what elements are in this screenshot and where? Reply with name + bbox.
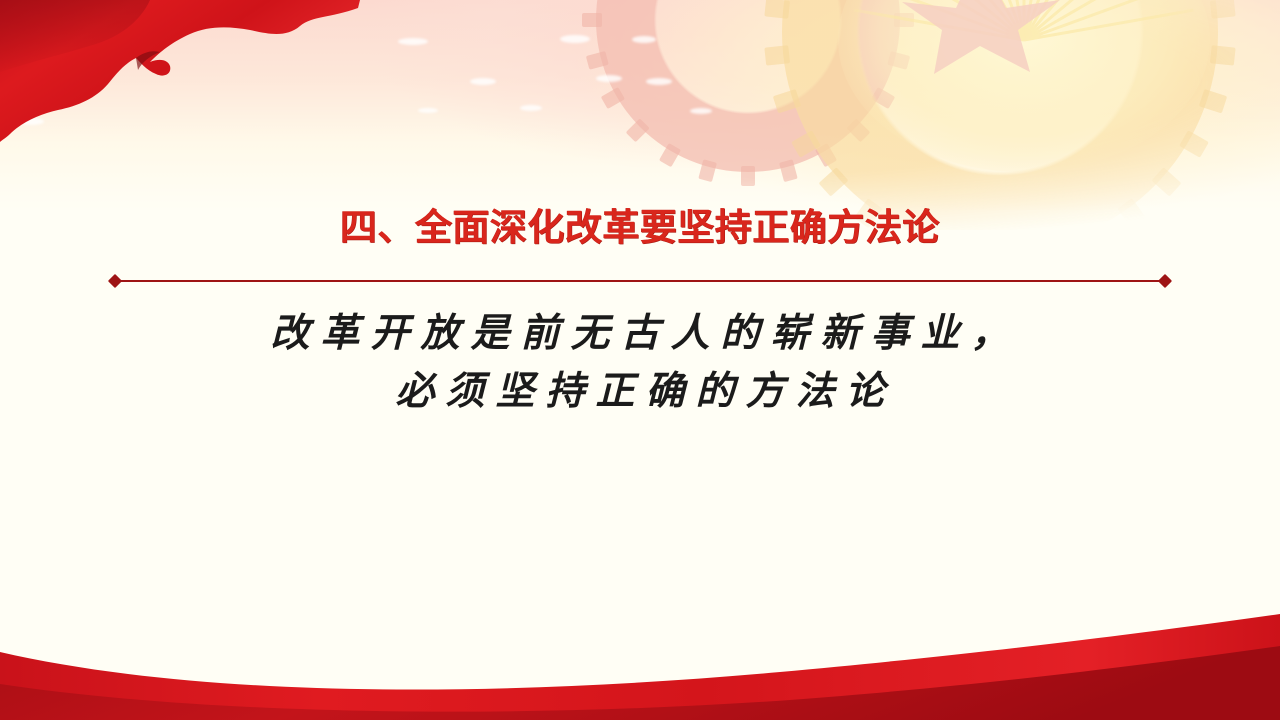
page-title: 四、全面深化改革要坚持正确方法论 [0,206,1280,250]
quote-line-2: 必须坚持正确的方法论 [0,362,1280,420]
presentation-slide: 四、全面深化改革要坚持正确方法论 改革开放是前无古人的崭新事业， 必须坚持正确的… [0,0,1280,720]
divider-diamond-right-icon [1158,274,1172,288]
quote-block: 改革开放是前无古人的崭新事业， 必须坚持正确的方法论 [0,304,1280,420]
slide-content: 四、全面深化改革要坚持正确方法论 改革开放是前无古人的崭新事业， 必须坚持正确的… [0,0,1280,720]
title-divider [110,274,1170,288]
divider-rule [116,280,1164,282]
quote-line-1: 改革开放是前无古人的崭新事业， [0,304,1280,362]
